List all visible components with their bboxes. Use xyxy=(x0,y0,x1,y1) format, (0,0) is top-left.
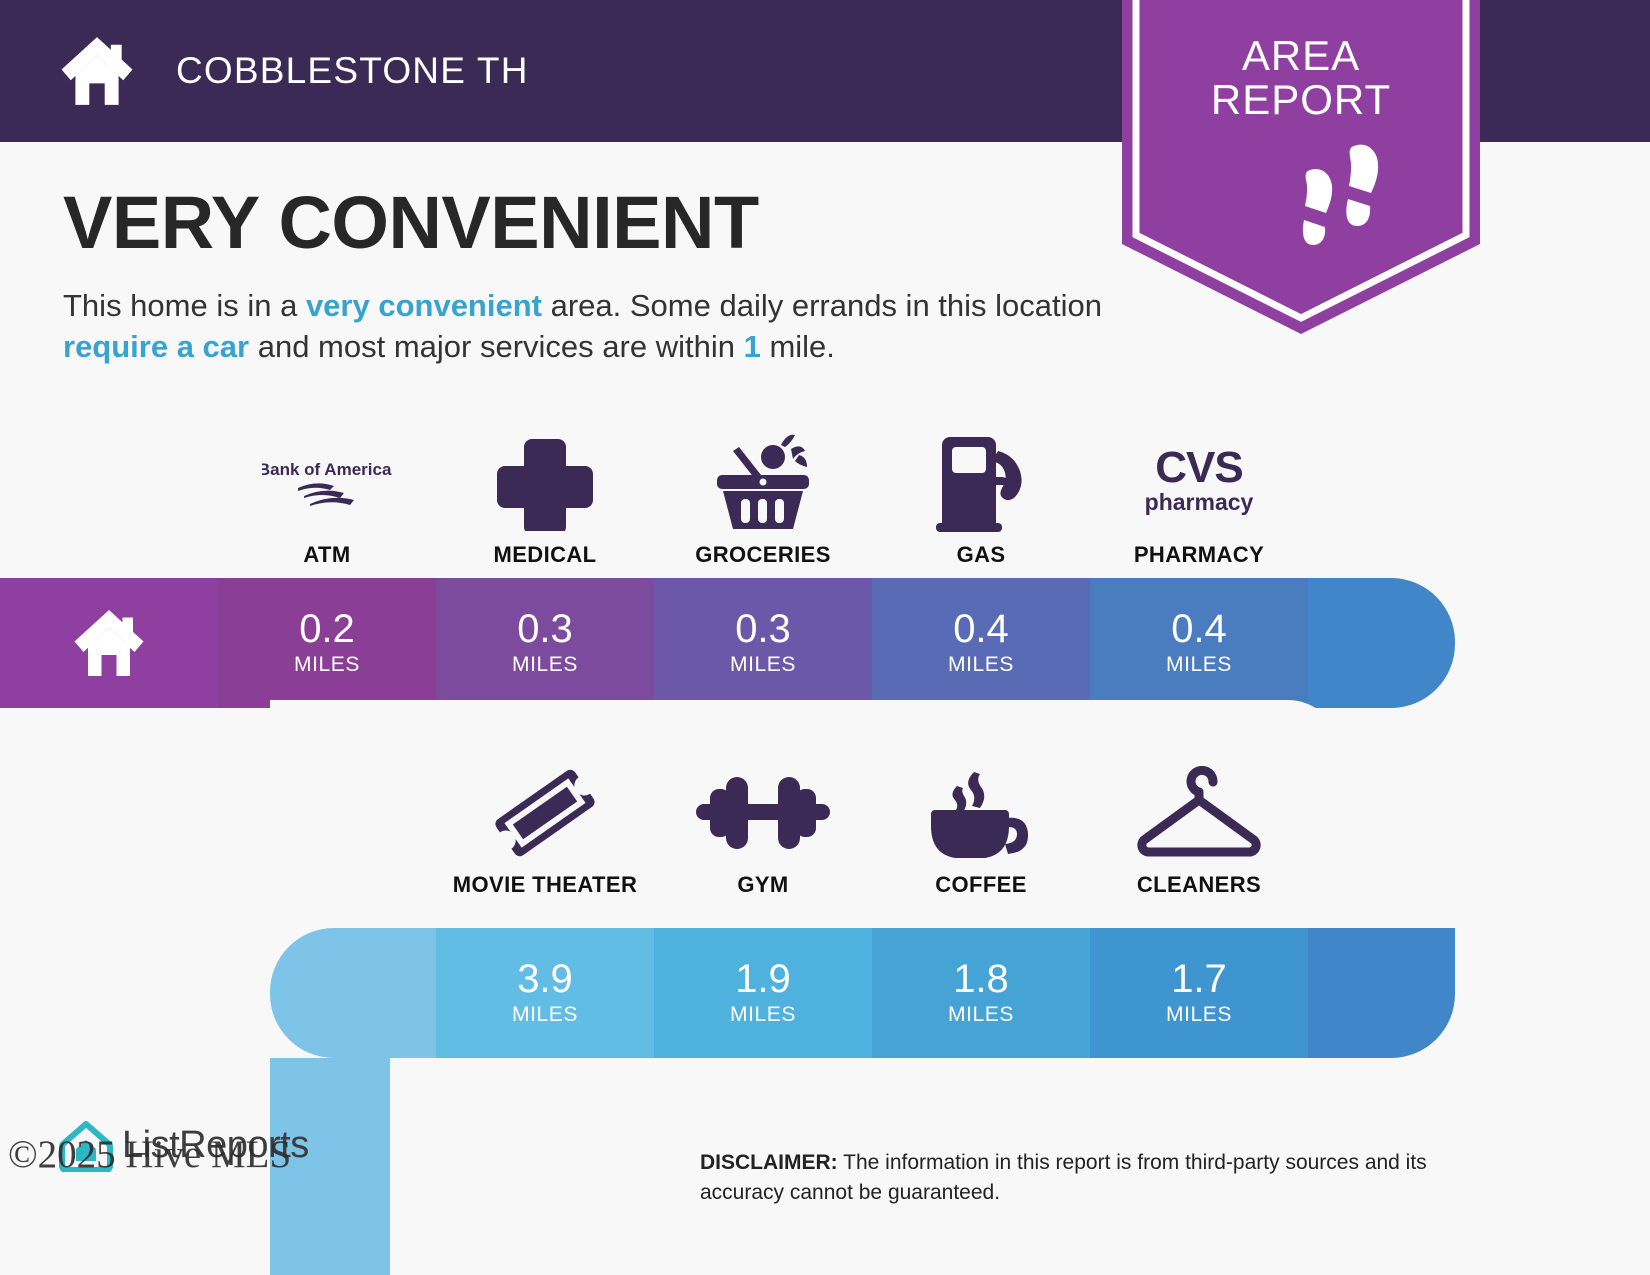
bar-connector-notch xyxy=(390,1058,470,1138)
gas-pump-icon xyxy=(872,430,1090,536)
headline-block: VERY CONVENIENT This home is in a very c… xyxy=(63,186,1113,368)
distance-value: 0.4 xyxy=(1171,609,1227,649)
amenity-label: GAS xyxy=(957,542,1006,568)
bar-tail-2 xyxy=(1308,928,1455,1058)
distance-unit: MILES xyxy=(948,653,1014,677)
coffee-cup-icon xyxy=(872,760,1090,866)
distance-cell-gas: 0.4 MILES xyxy=(872,578,1090,708)
amenity-icon-row-1: Bank of America. ATM MEDICAL xyxy=(0,418,1650,568)
clothes-hanger-icon xyxy=(1090,760,1308,866)
summary-part-1: This home is in a xyxy=(63,288,306,323)
summary-part-4: mile. xyxy=(761,329,835,364)
distance-cell-groceries: 0.3 MILES xyxy=(654,578,872,708)
home-marker-cell xyxy=(0,578,218,708)
amenity-gas: GAS xyxy=(872,418,1090,568)
distance-cell-medical: 0.3 MILES xyxy=(436,578,654,708)
amenity-movie-theater: MOVIE THEATER xyxy=(436,748,654,898)
grocery-basket-icon xyxy=(654,430,872,536)
summary-text: This home is in a very convenient area. … xyxy=(63,286,1103,368)
summary-highlight-3: 1 xyxy=(744,329,761,364)
mls-watermark: ©2025 Hive MLS xyxy=(8,1132,291,1177)
distance-cell-gym: 1.9 MILES xyxy=(654,928,872,1058)
amenity-coffee: COFFEE xyxy=(872,748,1090,898)
svg-text:Bank of America.: Bank of America. xyxy=(262,460,392,479)
amenity-atm: Bank of America. ATM xyxy=(218,418,436,568)
amenity-label: MEDICAL xyxy=(493,542,596,568)
amenity-cleaners: CLEANERS xyxy=(1090,748,1308,898)
dumbbell-icon xyxy=(654,760,872,866)
summary-part-2: area. Some daily errands in this locatio… xyxy=(542,288,1102,323)
distance-unit: MILES xyxy=(1166,1003,1232,1027)
svg-text:pharmacy: pharmacy xyxy=(1145,489,1254,515)
amenity-groceries: GROCERIES xyxy=(654,418,872,568)
distance-unit: MILES xyxy=(294,653,360,677)
cvs-pharmacy-logo: CVS pharmacy xyxy=(1090,430,1308,536)
bar-tail-1 xyxy=(1308,578,1455,708)
distance-cell-cleaners: 1.7 MILES xyxy=(1090,928,1308,1058)
summary-highlight-1: very convenient xyxy=(306,288,542,323)
amenity-label: ATM xyxy=(303,542,350,568)
page-title: VERY CONVENIENT xyxy=(63,186,1113,260)
area-report-badge: AREA REPORT xyxy=(1122,0,1480,334)
distance-value: 1.9 xyxy=(735,959,791,999)
distance-value: 1.7 xyxy=(1171,959,1227,999)
amenity-label: GROCERIES xyxy=(695,542,831,568)
distance-bar-row-2: 3.9 MILES 1.9 MILES 1.8 MILES 1.7 MILES xyxy=(270,928,1455,1058)
movie-ticket-icon xyxy=(436,760,654,866)
amenity-gym: GYM xyxy=(654,748,872,898)
page-title-header: COBBLESTONE TH xyxy=(176,50,529,92)
distance-cell-coffee: 1.8 MILES xyxy=(872,928,1090,1058)
summary-highlight-2: require a car xyxy=(63,329,249,364)
medical-cross-icon xyxy=(436,430,654,536)
distance-value: 0.3 xyxy=(517,609,573,649)
amenity-label: PHARMACY xyxy=(1134,542,1264,568)
amenity-label: GYM xyxy=(737,872,788,898)
distance-unit: MILES xyxy=(948,1003,1014,1027)
disclaimer: DISCLAIMER: The information in this repo… xyxy=(700,1148,1512,1208)
distance-unit: MILES xyxy=(512,1003,578,1027)
disclaimer-label: DISCLAIMER: xyxy=(700,1151,838,1174)
distance-unit: MILES xyxy=(730,1003,796,1027)
distance-value: 0.3 xyxy=(735,609,791,649)
amenity-icon-row-2: MOVIE THEATER GYM xyxy=(0,748,1650,898)
svg-text:CVS: CVS xyxy=(1155,444,1242,492)
distance-value: 3.9 xyxy=(517,959,573,999)
distance-unit: MILES xyxy=(1166,653,1232,677)
bank-of-america-logo: Bank of America. xyxy=(218,430,436,536)
distance-unit: MILES xyxy=(730,653,796,677)
distance-bar-row-1: 0.2 MILES 0.3 MILES 0.3 MILES 0.4 MILES … xyxy=(0,578,1455,708)
distance-cell-movie-theater: 3.9 MILES xyxy=(436,928,654,1058)
distance-value: 0.4 xyxy=(953,609,1009,649)
amenity-label: COFFEE xyxy=(935,872,1027,898)
distance-value: 1.8 xyxy=(953,959,1009,999)
distance-value: 0.2 xyxy=(299,609,355,649)
summary-part-3: and most major services are within xyxy=(249,329,743,364)
home-icon xyxy=(58,34,136,108)
amenity-pharmacy: CVS pharmacy PHARMACY xyxy=(1090,418,1308,568)
amenity-label: MOVIE THEATER xyxy=(453,872,637,898)
amenity-label: CLEANERS xyxy=(1137,872,1261,898)
distance-unit: MILES xyxy=(512,653,578,677)
amenity-medical: MEDICAL xyxy=(436,418,654,568)
home-icon xyxy=(69,607,149,679)
bar-head-2 xyxy=(270,928,436,1058)
distance-cell-atm: 0.2 MILES xyxy=(218,578,436,708)
distance-cell-pharmacy: 0.4 MILES xyxy=(1090,578,1308,708)
